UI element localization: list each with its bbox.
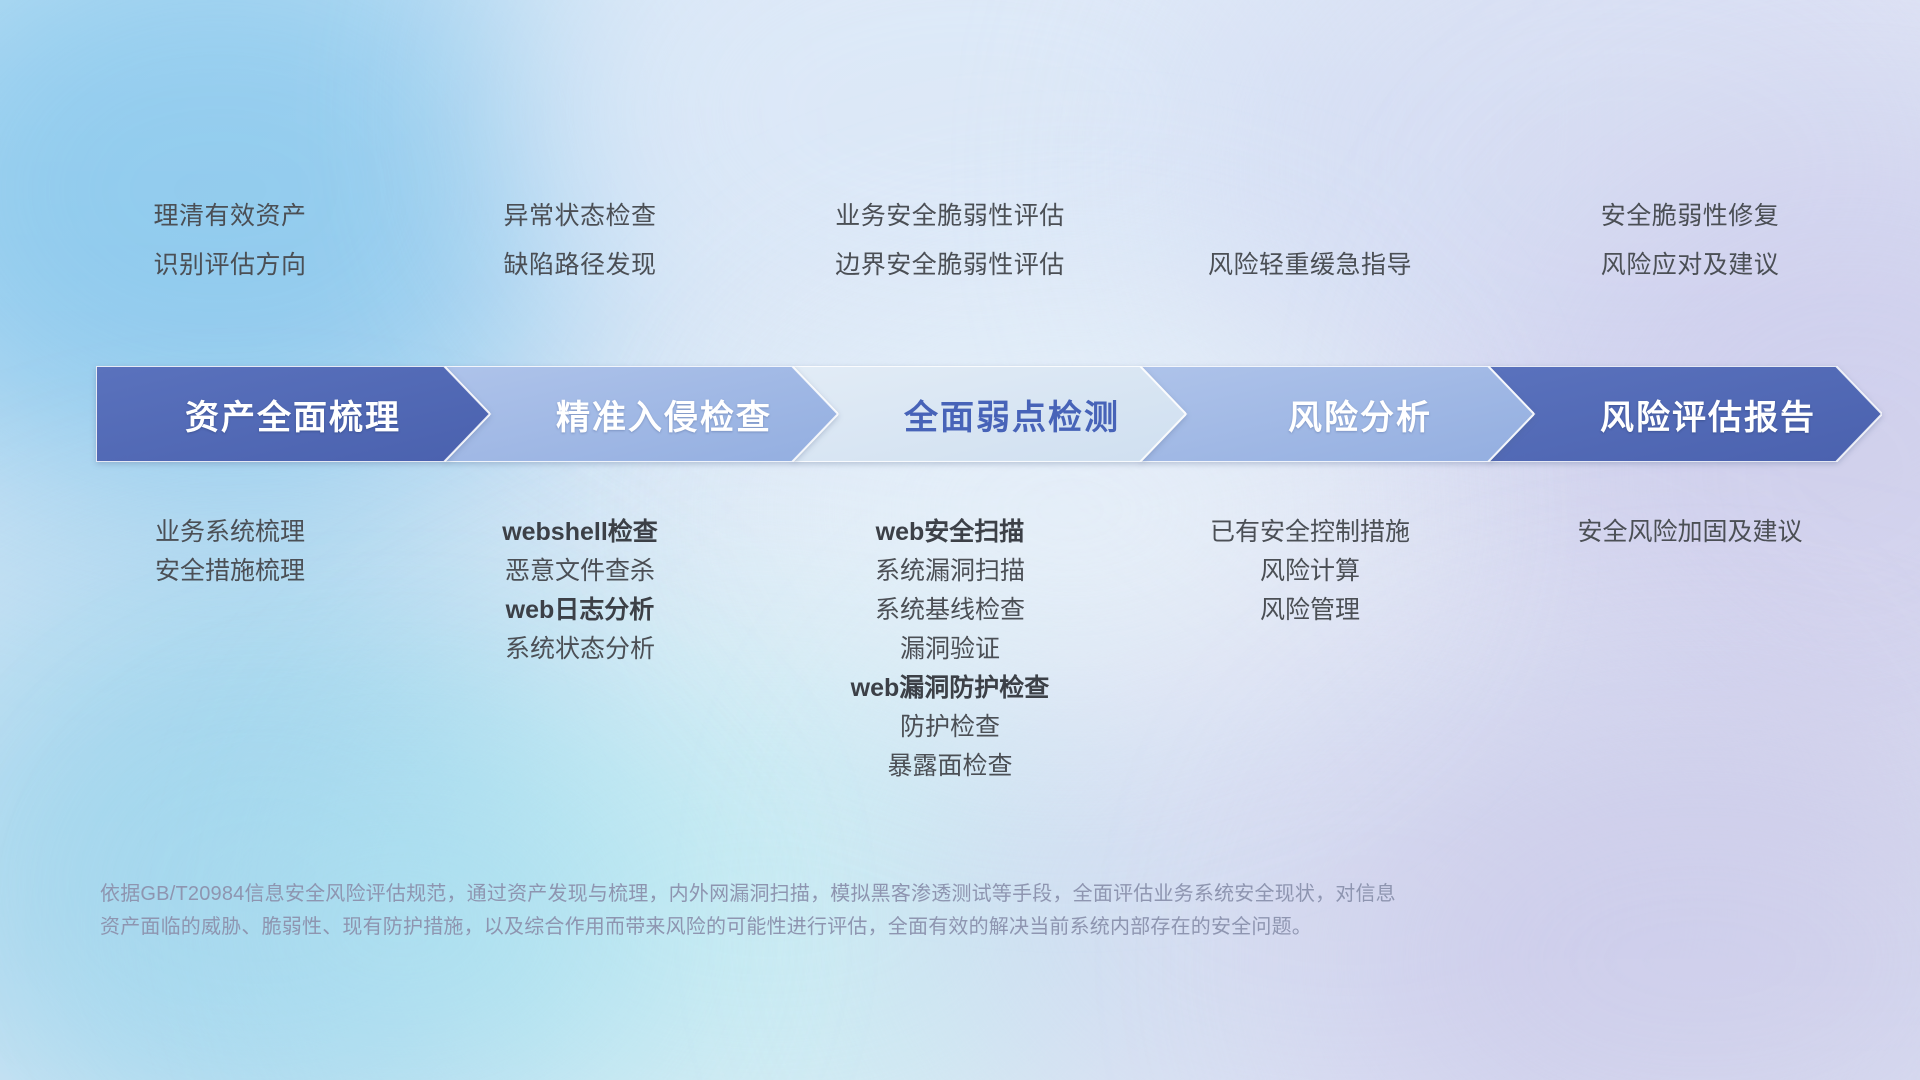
process-arrow-report[interactable]: 风险评估报告: [1488, 366, 1882, 462]
bottom-list-item: 风险计算: [1010, 552, 1610, 591]
process-arrow-label: 资产全面梳理: [185, 390, 401, 439]
process-arrow-weakness[interactable]: 全面弱点检测: [792, 366, 1186, 462]
process-arrow-label: 风险分析: [1288, 390, 1432, 439]
top-label-item: 安全脆弱性修复: [1390, 192, 1920, 241]
bottom-list-item: 漏洞验证: [650, 630, 1250, 669]
process-arrow-label: 全面弱点检测: [904, 390, 1120, 439]
bottom-list-item: 防护检查: [650, 708, 1250, 747]
item-rest: 日志分析: [554, 596, 654, 624]
latin-prefix: webshell: [502, 518, 608, 546]
footer-line-1: 依据GB/T20984信息安全风险评估规范，通过资产发现与梳理，内外网漏洞扫描，…: [100, 878, 1660, 911]
bottom-list-item: 暴露面检查: [650, 747, 1250, 786]
bottom-list-item: 安全风险加固及建议: [1390, 513, 1920, 552]
process-arrow-label: 风险评估报告: [1600, 390, 1816, 439]
top-label-item: 风险应对及建议: [1390, 241, 1920, 290]
bottom-list-item: web漏洞防护检查: [650, 669, 1250, 708]
footer-description: 依据GB/T20984信息安全风险评估规范，通过资产发现与梳理，内外网漏洞扫描，…: [100, 878, 1660, 944]
top-label-group-report: 安全脆弱性修复风险应对及建议: [1390, 192, 1920, 290]
bottom-list-item: 风险管理: [1010, 591, 1610, 630]
latin-prefix: web: [851, 674, 900, 702]
process-arrow-band: 资产全面梳理精准入侵检查全面弱点检测风险分析风险评估报告: [96, 366, 1836, 462]
process-arrow-intrusion[interactable]: 精准入侵检查: [444, 366, 838, 462]
item-rest: 漏洞防护检查: [899, 674, 1049, 702]
process-arrow-label: 精准入侵检查: [556, 390, 772, 439]
process-arrow-asset[interactable]: 资产全面梳理: [96, 366, 490, 462]
latin-prefix: web: [506, 596, 555, 624]
latin-prefix: web: [876, 518, 925, 546]
bottom-list-report: 安全风险加固及建议: [1390, 513, 1920, 552]
top-label-item: 业务安全脆弱性评估: [650, 192, 1250, 241]
infographic: 理清有效资产识别评估方向异常状态检查缺陷路径发现业务安全脆弱性评估边界安全脆弱性…: [0, 0, 1920, 1080]
footer-line-2: 资产面临的威胁、脆弱性、现有防护措施，以及综合作用而带来风险的可能性进行评估，全…: [100, 911, 1660, 944]
process-arrow-risk-analysis[interactable]: 风险分析: [1140, 366, 1534, 462]
